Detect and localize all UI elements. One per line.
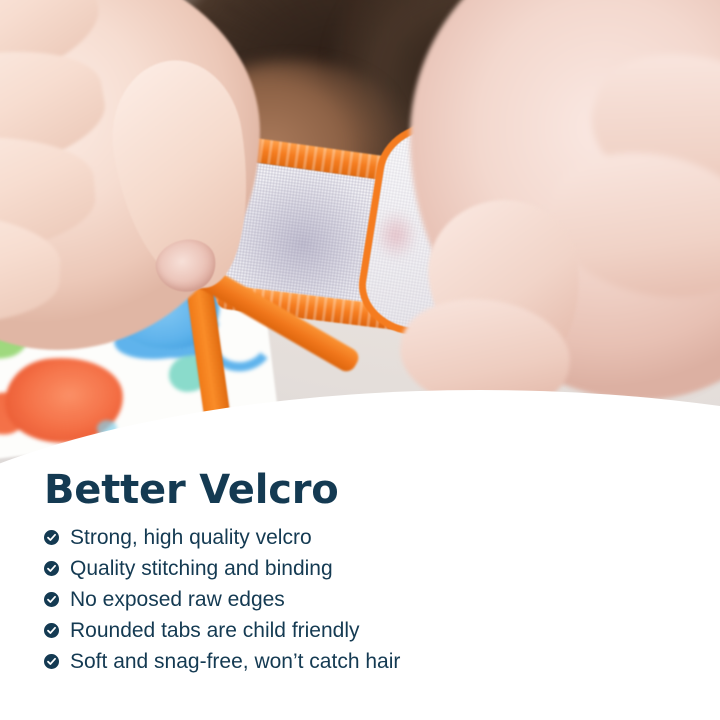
feature-content: Better Velcro Strong, high quality velcr… [44, 470, 664, 681]
feature-bullet-list: Strong, high quality velcro Quality stit… [44, 526, 664, 673]
tab-highlight [366, 200, 426, 270]
page-title: Better Velcro [44, 470, 664, 510]
list-item: No exposed raw edges [44, 588, 664, 611]
check-circle-icon [44, 623, 59, 638]
check-circle-icon [44, 530, 59, 545]
list-item-label: Rounded tabs are child friendly [70, 619, 360, 642]
list-item-label: No exposed raw edges [70, 588, 285, 611]
list-item: Strong, high quality velcro [44, 526, 664, 549]
check-circle-icon [44, 561, 59, 576]
list-item: Soft and snag-free, won’t catch hair [44, 650, 664, 673]
check-circle-icon [44, 654, 59, 669]
list-item: Rounded tabs are child friendly [44, 619, 664, 642]
list-item-label: Strong, high quality velcro [70, 526, 312, 549]
list-item-label: Quality stitching and binding [70, 557, 333, 580]
list-item: Quality stitching and binding [44, 557, 664, 580]
list-item-label: Soft and snag-free, won’t catch hair [70, 650, 400, 673]
check-circle-icon [44, 592, 59, 607]
product-feature-card: Better Velcro Strong, high quality velcr… [0, 0, 720, 720]
